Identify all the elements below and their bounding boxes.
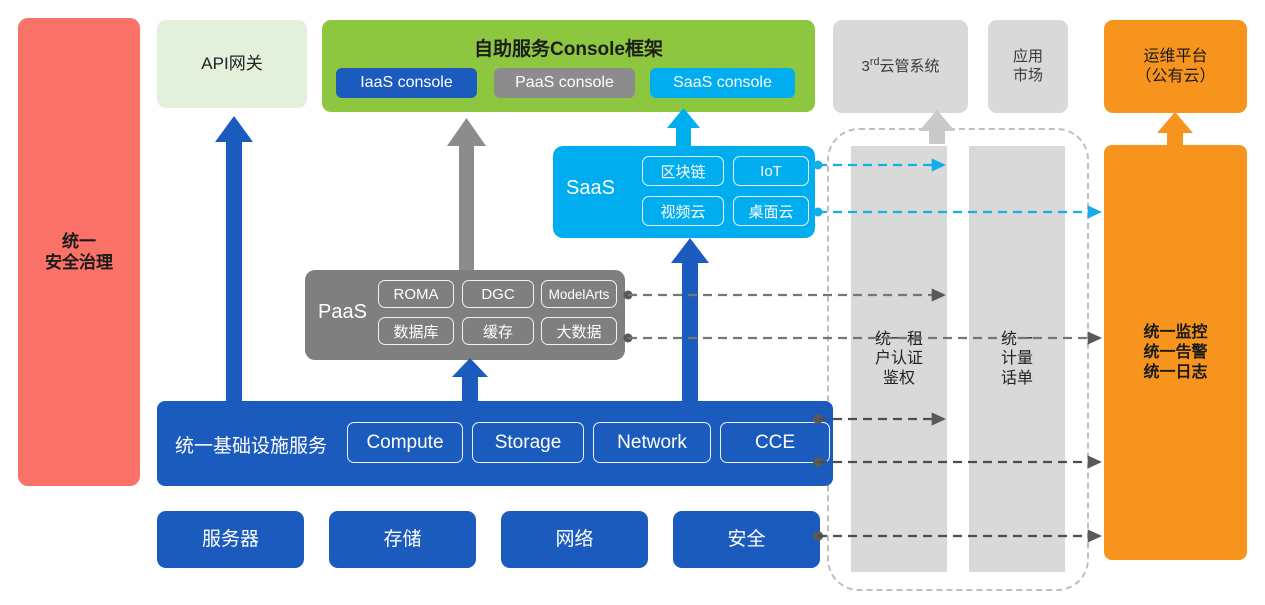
security-pillar-line1: 统一 [45,231,113,252]
ops-platform-top-line1: 运维平台 [1135,47,1215,67]
base-resource-security[interactable]: 安全 [673,511,820,568]
base-resource-security-label: 安全 [727,528,765,552]
ops-pillar-line2: 统一告警 [1143,343,1207,363]
paas-console-label: PaaS console [515,74,614,92]
paas-item-cache-label: 缓存 [483,321,513,342]
base-resource-network[interactable]: 网络 [501,511,648,568]
auth-line1: 统一租 [875,330,923,350]
base-resource-network-label: 网络 [555,528,593,552]
saas-item-desktop-cloud[interactable]: 桌面云 [733,196,809,226]
paas-console-chip[interactable]: PaaS console [494,68,635,98]
paas-item-modelarts-label: ModelArts [549,287,610,302]
ops-pillar-line1: 统一监控 [1143,323,1207,343]
arrow-saas-to-saas-console [667,108,700,148]
infra-item-network-label: Network [617,432,687,454]
arrow-infra-to-saas [671,238,709,402]
saas-console-label: SaaS console [673,74,772,92]
auth-line2: 户认证 [875,349,923,369]
infra-item-cce[interactable]: CCE [720,422,830,463]
saas-item-blockchain[interactable]: 区块链 [642,156,724,186]
paas-item-roma[interactable]: ROMA [378,280,454,308]
unified-infrastructure-block: 统一基础设施服务 Compute Storage Network CCE [157,401,833,486]
saas-item-iot-label: IoT [760,163,782,180]
base-resource-storage-label: 存储 [383,528,421,552]
paas-item-database[interactable]: 数据库 [378,317,454,345]
api-gateway-label: API网关 [201,53,262,74]
saas-console-chip[interactable]: SaaS console [650,68,795,98]
shared-service-column-auth: 统一租 户认证 鉴权 [851,146,947,572]
metering-line1: 统一 [1001,330,1033,350]
paas-item-bigdata-label: 大数据 [556,321,601,342]
paas-item-modelarts[interactable]: ModelArts [541,280,617,308]
infra-item-storage[interactable]: Storage [472,422,584,463]
console-frame-title: 自助服务Console框架 [322,34,815,61]
paas-item-bigdata[interactable]: 大数据 [541,317,617,345]
third-party-cloud-management-box: 3rd云管系统 [833,20,968,113]
third-party-label: 3rd云管系统 [862,56,940,77]
third-party-prefix: 3 [862,58,870,75]
paas-item-cache[interactable]: 缓存 [462,317,534,345]
paas-item-roma-label: ROMA [394,286,439,303]
ops-platform-top-line2: （公有云） [1135,67,1215,87]
paas-layer-block: PaaS ROMA DGC ModelArts 数据库 缓存 大数据 [305,270,625,360]
base-resource-server-label: 服务器 [202,528,259,552]
iaas-console-label: IaaS console [360,74,453,92]
infra-item-network[interactable]: Network [593,422,711,463]
base-resource-storage[interactable]: 存储 [329,511,476,568]
saas-item-video-cloud-label: 视频云 [660,201,705,222]
arrow-ops-pillar-to-ops-top [1157,112,1193,146]
saas-item-desktop-cloud-label: 桌面云 [748,201,793,222]
app-market-line2: 市场 [1013,67,1043,86]
infra-layer-label: 统一基础设施服务 [175,431,327,458]
paas-item-dgc[interactable]: DGC [462,280,534,308]
infra-item-cce-label: CCE [755,432,795,454]
paas-layer-label: PaaS [318,301,367,324]
third-party-rest: 云管系统 [879,58,939,75]
infra-item-compute-label: Compute [366,432,443,454]
app-market-box: 应用 市场 [988,20,1068,113]
auth-line3: 鉴权 [875,369,923,389]
base-resource-server[interactable]: 服务器 [157,511,304,568]
security-pillar-line2: 安全治理 [45,252,113,273]
api-gateway-box: API网关 [157,20,307,108]
saas-item-video-cloud[interactable]: 视频云 [642,196,724,226]
paas-item-dgc-label: DGC [481,286,514,303]
arrow-infra-to-api-gateway [215,116,253,401]
self-service-console-frame: 自助服务Console框架 IaaS console PaaS console … [322,20,815,112]
infra-item-compute[interactable]: Compute [347,422,463,463]
security-governance-pillar: 统一 安全治理 [18,18,140,486]
shared-service-column-metering: 统一 计量 话单 [969,146,1065,572]
ops-platform-top-box: 运维平台 （公有云） [1104,20,1247,113]
infra-item-storage-label: Storage [495,432,562,454]
iaas-console-chip[interactable]: IaaS console [336,68,477,98]
saas-layer-block: SaaS 区块链 IoT 视频云 桌面云 [553,146,815,238]
metering-line3: 话单 [1001,369,1033,389]
saas-item-blockchain-label: 区块链 [660,161,705,182]
app-market-line1: 应用 [1013,48,1043,67]
metering-line2: 计量 [1001,349,1033,369]
saas-layer-label: SaaS [566,177,615,200]
paas-item-database-label: 数据库 [393,321,438,342]
architecture-diagram: 统一 安全治理 API网关 自助服务Console框架 IaaS console… [0,0,1265,605]
arrow-infra-to-paas [452,358,488,402]
saas-item-iot[interactable]: IoT [733,156,809,186]
arrow-paas-to-console [447,118,486,270]
ops-pillar-line3: 统一日志 [1143,363,1207,383]
ops-platform-pillar: 统一监控 统一告警 统一日志 [1104,145,1247,560]
